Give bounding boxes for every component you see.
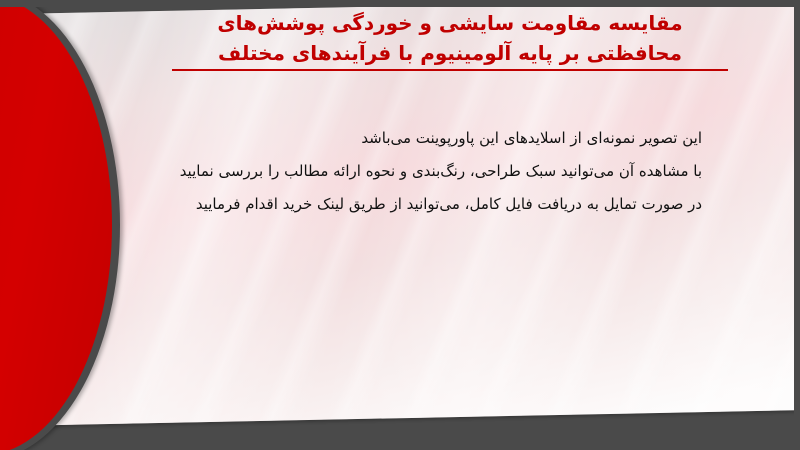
slide-canvas: مقایسه مقاومت سایشی و خوردگی پوشش‌های مح… xyxy=(0,0,800,450)
body-line-2: با مشاهده آن می‌توانید سبک طراحی، رنگ‌بن… xyxy=(102,155,702,188)
title-line-1: مقایسه مقاومت سایشی و خوردگی پوشش‌های xyxy=(120,8,780,38)
bottom-frame-band xyxy=(0,420,800,450)
title-line-2: محافظتی بر پایه آلومینیوم با فرآیندهای م… xyxy=(120,38,780,68)
top-frame-band xyxy=(0,0,800,7)
red-ellipse-decoration xyxy=(0,0,120,450)
right-frame-band xyxy=(794,0,800,450)
slide-body-text: این تصویر نمونه‌ای از اسلایدهای این پاور… xyxy=(102,122,702,221)
body-line-3: در صورت تمایل به دریافت فایل کامل، می‌تو… xyxy=(102,188,702,221)
title-underline-rule xyxy=(172,69,728,71)
slide-title: مقایسه مقاومت سایشی و خوردگی پوشش‌های مح… xyxy=(120,8,780,71)
ellipse-fill xyxy=(0,0,112,450)
body-line-1: این تصویر نمونه‌ای از اسلایدهای این پاور… xyxy=(102,122,702,155)
